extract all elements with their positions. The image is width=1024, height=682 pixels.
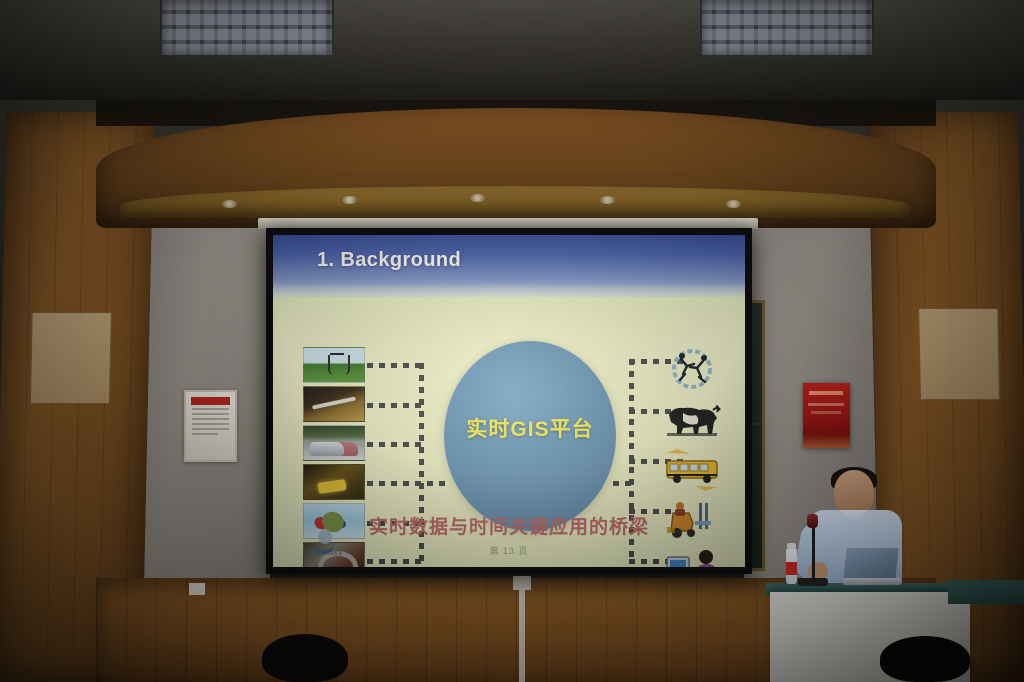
lecture-hall-scene: 1. Background [0,0,1024,682]
connector-right-stub [613,481,635,486]
microphone-stand [812,520,815,584]
notice-text-line [192,428,229,430]
notice-text-line [192,433,218,435]
downlight-2 [342,196,357,204]
left-wood-inset-panel [30,312,112,404]
laptop-screen[interactable] [843,548,898,580]
runners-sports-icon [661,347,723,392]
connector-left-6 [367,559,423,564]
center-circle-label: 实时GIS平台 [444,413,616,443]
ceiling-light-left [160,0,334,57]
downlight-4 [600,196,615,204]
notice-header-bar [191,397,230,405]
projection-screen: 1. Background [266,228,752,574]
notice-text-line [192,413,229,415]
valance-lower-lip [120,186,910,218]
wall-notice-board [184,390,237,462]
red-wall-poster [803,383,850,448]
microphone-head [807,514,818,528]
cattle-livestock-icon [661,397,723,442]
ceiling-light-right [700,0,874,57]
left-wall-panel [140,170,270,590]
slide-title: 1. Background [317,249,461,272]
downlight-5 [726,200,741,208]
center-circle: 实时GIS平台 [444,341,616,531]
airplane-runway-photo [303,386,365,422]
notice-text-line [192,423,229,425]
survey-van-photo [303,425,365,461]
poster-title-bar [809,391,843,395]
conduit-junction-box [513,576,531,590]
poster-text-bar [808,403,844,406]
cable-conduit [519,578,525,682]
side-table [948,580,1024,604]
logo-mark-icon [311,530,337,550]
poster-text-bar [811,411,841,414]
aerial-survey-tripod-photo [303,347,365,383]
water-bottle-label [786,562,797,575]
notice-text-line [192,418,229,420]
poster-glow [803,434,850,448]
right-wood-inset-panel [918,308,1000,400]
taxi-rooftop-sign-photo [303,464,365,500]
presentation-slide: 1. Background [273,235,745,567]
downlight-1 [222,200,237,208]
audience-head-right [880,636,970,682]
connector-left-1 [367,363,423,368]
slide-logo: LANDMARKS [299,530,349,557]
connector-left-4 [367,481,447,486]
audience-head-left [262,634,348,682]
school-bus-icon [661,447,723,492]
laptop-keyboard[interactable] [843,578,901,585]
water-bottle-cap [787,543,796,549]
downlight-3 [470,194,485,202]
wall-outlet [189,583,205,595]
notice-text-line [192,408,229,410]
connector-left-3 [367,442,423,447]
connector-left-2 [367,403,423,408]
